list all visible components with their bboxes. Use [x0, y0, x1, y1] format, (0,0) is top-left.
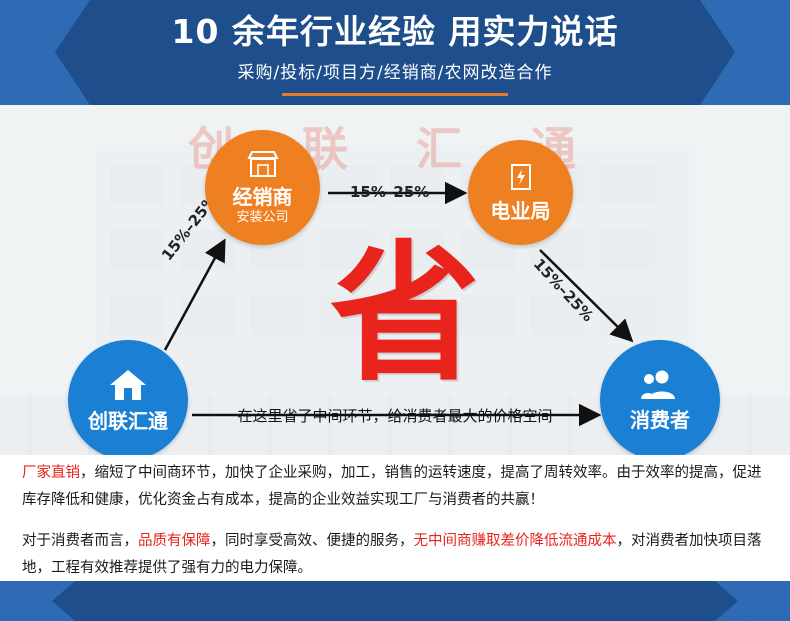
highlighted-text: 品质有保障 — [138, 533, 211, 549]
plain-text: ，同时享受高效、便捷的服务， — [211, 533, 414, 549]
shop-store-icon — [246, 150, 280, 182]
chevron-pattern-icon — [0, 581, 110, 621]
body-paragraph-1: 厂家直销，缩短了中间商环节，加快了企业采购，加工，销售的运转速度，提高了周转效率… — [22, 460, 768, 514]
diagram-middle-text: 在这里省了中间环节，给消费者最大的价格空间 — [190, 405, 600, 426]
page-footer — [0, 581, 790, 621]
node-dealer-label: 经销商 — [233, 185, 293, 209]
node-power-bureau-label: 电业局 — [491, 199, 551, 223]
node-power-bureau: 电业局 — [468, 140, 573, 245]
building-lightning-icon — [506, 162, 536, 196]
node-consumer: 消费者 — [600, 340, 720, 455]
highlighted-text: 无中间商赚取差价降低流通成本 — [414, 533, 617, 549]
center-keyword: 省 — [330, 235, 470, 395]
node-dealer: 经销商 安装公司 — [205, 130, 320, 245]
header-title: 10 余年行业经验 用实力说话 — [0, 10, 790, 54]
user-person-icon — [640, 369, 680, 405]
body-text-block: 厂家直销，缩短了中间商环节，加快了企业采购，加工，销售的运转速度，提高了周转效率… — [0, 460, 790, 580]
header-subtitle: 采购/投标/项目方/经销商/农网改造合作 — [0, 58, 790, 83]
plain-text: ，缩短了中间商环节，加快了企业采购，加工，销售的运转速度，提高了周转效率。由于效… — [22, 465, 762, 508]
node-brand: 创联汇通 — [68, 340, 188, 455]
flow-diagram: 创 联 汇 通 15%–25% 15%–25% 15%–25% 省 经销商 — [0, 105, 790, 455]
chevron-pattern-icon — [680, 581, 790, 621]
node-consumer-label: 消费者 — [630, 408, 690, 432]
home-house-icon — [108, 368, 148, 406]
node-brand-label: 创联汇通 — [88, 409, 168, 433]
header-underline — [282, 93, 508, 96]
body-paragraph-2: 对于消费者而言，品质有保障，同时享受高效、便捷的服务，无中间商赚取差价降低流通成… — [22, 528, 768, 582]
page-header: 10 余年行业经验 用实力说话 采购/投标/项目方/经销商/农网改造合作 — [0, 0, 790, 105]
arrow-label-dealer-to-power: 15%–25% — [350, 183, 429, 201]
node-dealer-sublabel: 安装公司 — [236, 210, 288, 226]
plain-text: 对于消费者而言， — [22, 533, 138, 549]
highlighted-text: 厂家直销 — [22, 465, 80, 481]
